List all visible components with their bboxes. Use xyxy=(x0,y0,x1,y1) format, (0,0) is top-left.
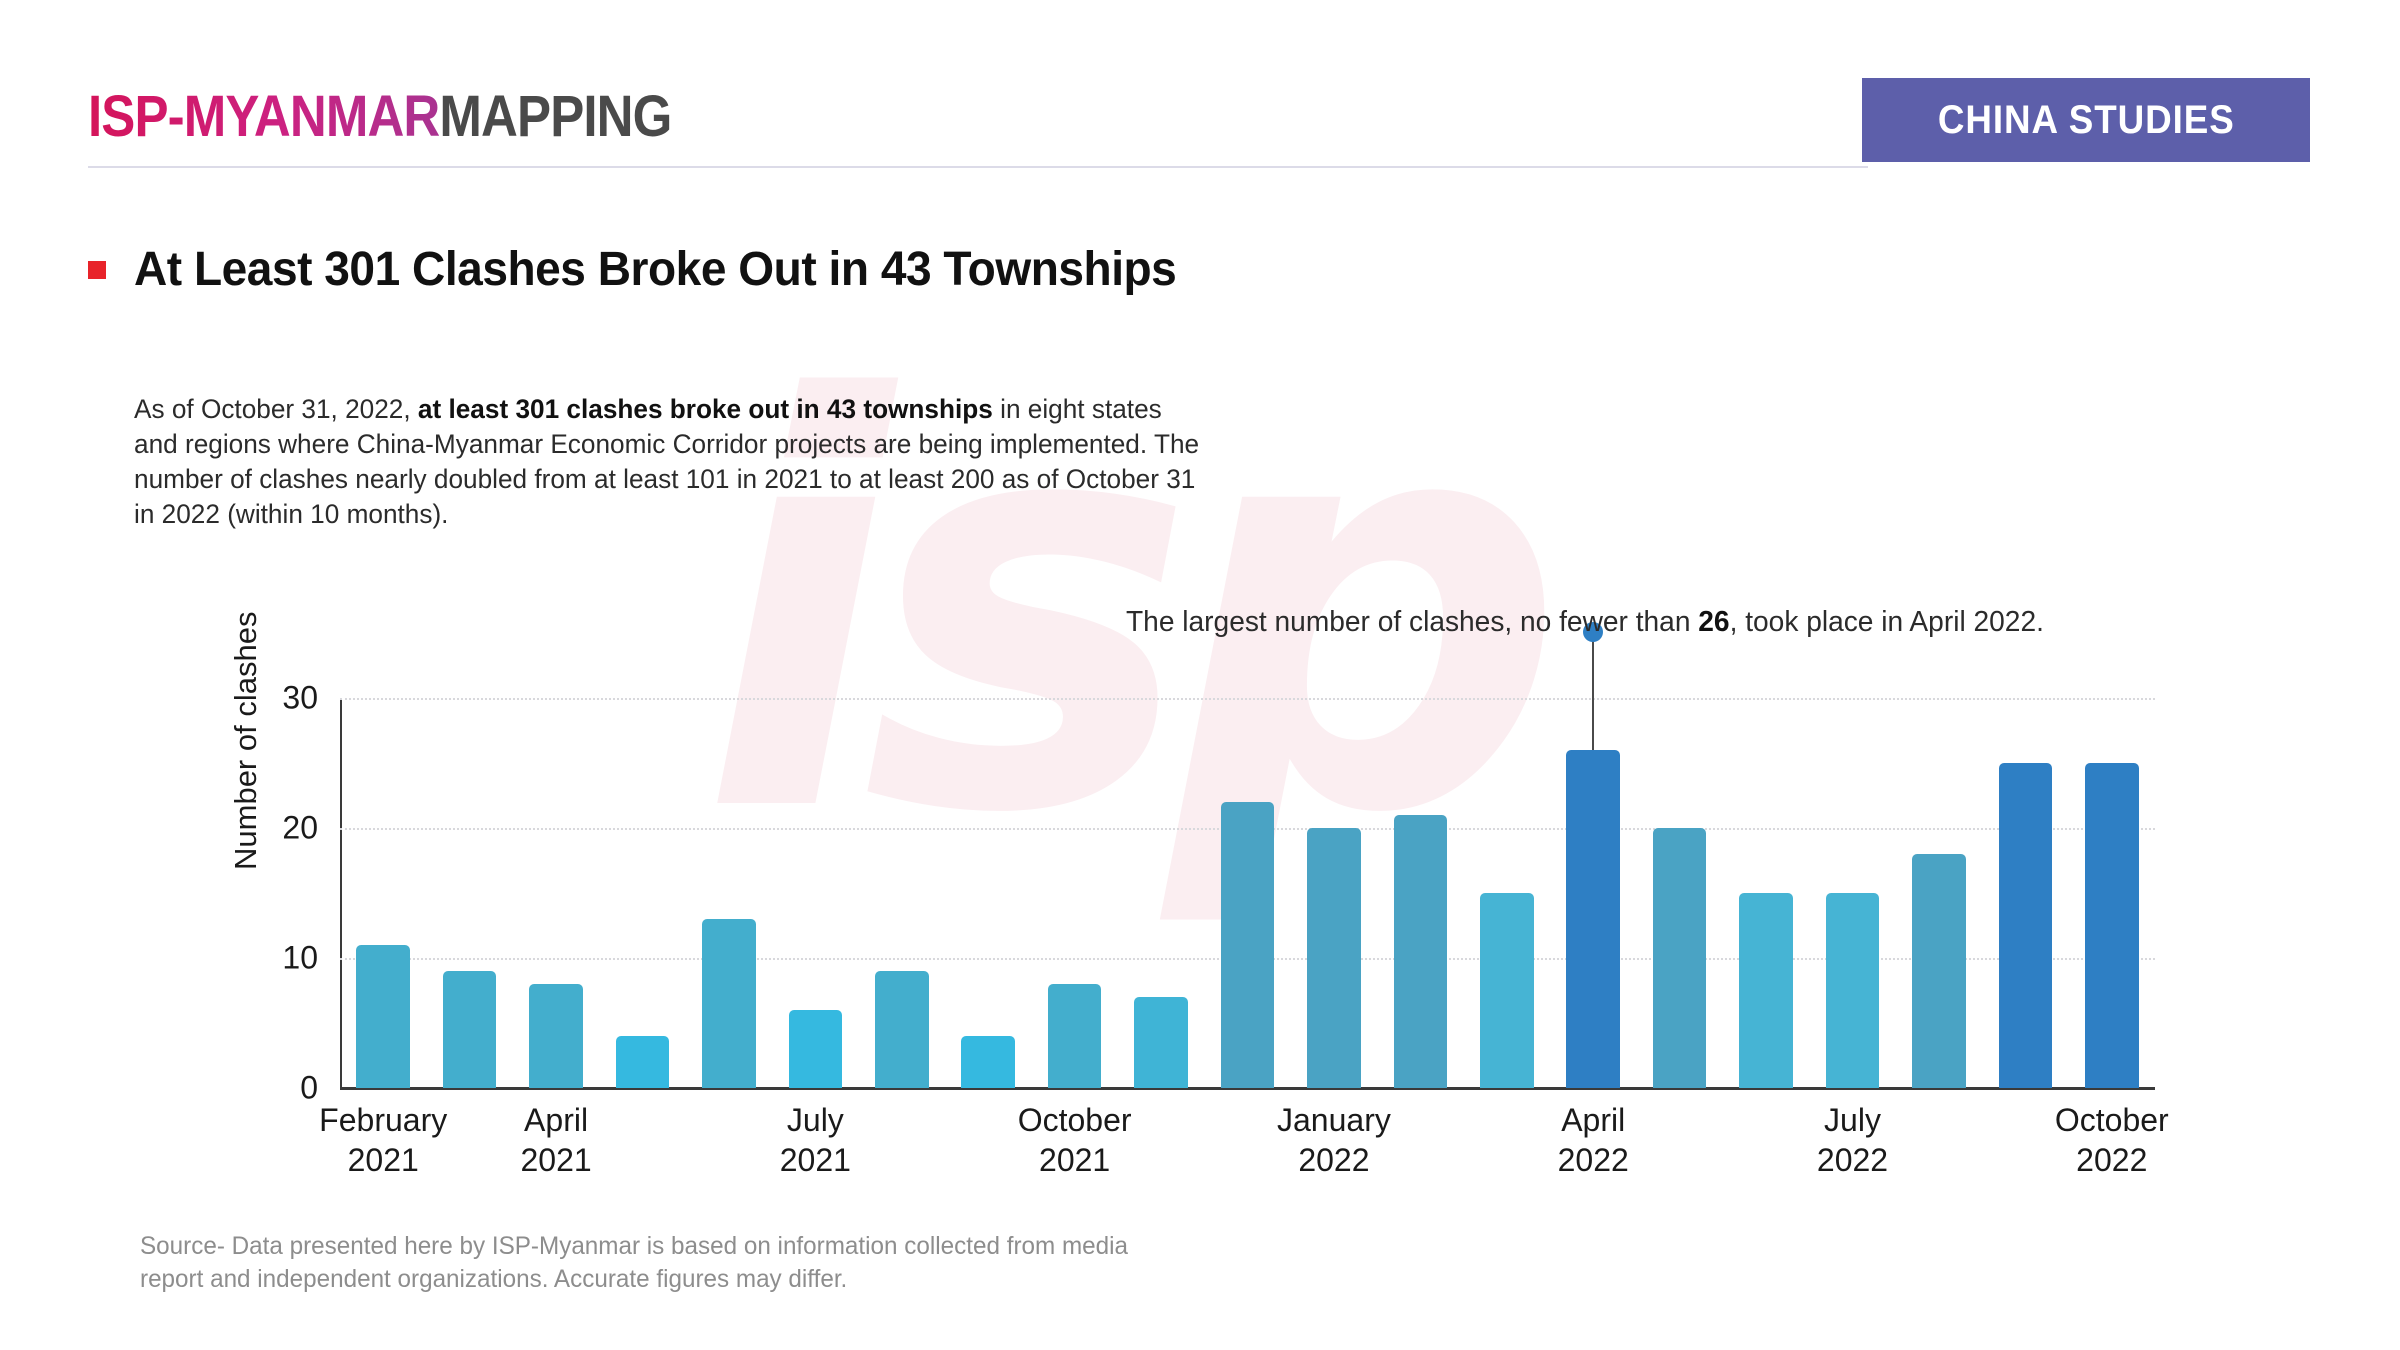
bar-september-2022 xyxy=(1999,763,2053,1088)
x-tick-year: 2021 xyxy=(780,1140,851,1180)
bar-may-2022 xyxy=(1653,828,1707,1088)
logo-secondary-text: MAPPING xyxy=(439,84,671,149)
highlight-leader-line xyxy=(1592,632,1594,750)
y-tick-label-0: 0 xyxy=(300,1070,318,1107)
bar-august-2021 xyxy=(875,971,929,1088)
bar-february-2022 xyxy=(1394,815,1448,1088)
badge-label: CHINA STUDIES xyxy=(1938,98,2235,143)
bar-june-2022 xyxy=(1739,893,1793,1088)
x-tick-year: 2021 xyxy=(520,1140,591,1180)
body-paragraph: As of October 31, 2022, at least 301 cla… xyxy=(134,392,1201,532)
bar-december-2021 xyxy=(1221,802,1275,1088)
y-tick-label-30: 30 xyxy=(282,680,318,717)
bar-september-2021 xyxy=(961,1036,1015,1088)
x-tick-month: January xyxy=(1277,1100,1391,1140)
x-tick-label-october-2022: October2022 xyxy=(2055,1100,2169,1180)
body-segment-2-bold: at least 301 clashes broke out in 43 tow… xyxy=(418,394,993,424)
isp-myanmar-mapping-logo: ISP-MYANMARMAPPING xyxy=(88,88,671,146)
bar-october-2021 xyxy=(1048,984,1102,1088)
x-tick-label-february-2021: February2021 xyxy=(319,1100,447,1180)
x-axis-ticks: February2021April2021July2021October2021… xyxy=(340,1100,2155,1190)
china-studies-badge: CHINA STUDIES xyxy=(1862,78,2310,162)
logo-primary-text: ISP-MYANMAR xyxy=(88,84,439,149)
page-header: ISP-MYANMARMAPPING CHINA STUDIES xyxy=(0,0,2400,180)
annotation-suffix: , took place in April 2022. xyxy=(1730,606,2044,638)
x-tick-label-october-2021: October2021 xyxy=(1018,1100,1132,1180)
bar-march-2021 xyxy=(443,971,497,1088)
clashes-bar-chart: Number of clashes 0102030 February2021Ap… xyxy=(200,660,2210,1140)
x-tick-label-july-2021: July2021 xyxy=(780,1100,851,1180)
x-tick-label-april-2021: April2021 xyxy=(520,1100,591,1180)
bar-february-2021 xyxy=(356,945,410,1088)
x-tick-year: 2021 xyxy=(1018,1140,1132,1180)
x-tick-year: 2022 xyxy=(2055,1140,2169,1180)
source-note: Source- Data presented here by ISP-Myanm… xyxy=(140,1230,1159,1296)
x-tick-month: February xyxy=(319,1100,447,1140)
title-bullet-square-icon xyxy=(88,261,106,279)
bar-series xyxy=(340,698,2155,1088)
x-tick-month: April xyxy=(1558,1100,1629,1140)
bar-july-2022 xyxy=(1826,893,1880,1088)
annotation-value: 26 xyxy=(1698,606,1729,638)
x-tick-year: 2022 xyxy=(1817,1140,1888,1180)
bar-november-2021 xyxy=(1134,997,1188,1088)
y-axis-label: Number of clashes xyxy=(228,612,264,870)
plot-area: 0102030 xyxy=(340,698,2155,1088)
bar-april-2021 xyxy=(529,984,583,1088)
header-divider xyxy=(88,166,1868,168)
bar-june-2021 xyxy=(702,919,756,1088)
infographic-page: isp ISP-MYANMARMAPPING CHINA STUDIES At … xyxy=(0,0,2400,1350)
bar-august-2022 xyxy=(1912,854,1966,1088)
bar-may-2021 xyxy=(616,1036,670,1088)
x-tick-month: April xyxy=(520,1100,591,1140)
x-tick-year: 2022 xyxy=(1277,1140,1391,1180)
x-tick-month: July xyxy=(1817,1100,1888,1140)
bar-july-2021 xyxy=(789,1010,843,1088)
x-tick-month: July xyxy=(780,1100,851,1140)
page-title: At Least 301 Clashes Broke Out in 43 Tow… xyxy=(88,244,1220,296)
x-tick-year: 2021 xyxy=(319,1140,447,1180)
bar-january-2022 xyxy=(1307,828,1361,1088)
y-tick-label-10: 10 xyxy=(282,940,318,977)
bar-october-2022 xyxy=(2085,763,2139,1088)
x-tick-month: October xyxy=(1018,1100,1132,1140)
x-tick-label-july-2022: July2022 xyxy=(1817,1100,1888,1180)
annotation-prefix: The largest number of clashes, no fewer … xyxy=(1126,606,1698,638)
bar-march-2022 xyxy=(1480,893,1534,1088)
y-tick-label-20: 20 xyxy=(282,810,318,847)
x-tick-year: 2022 xyxy=(1558,1140,1629,1180)
chart-annotation: The largest number of clashes, no fewer … xyxy=(1126,605,2044,639)
x-tick-label-april-2022: April2022 xyxy=(1558,1100,1629,1180)
page-title-text: At Least 301 Clashes Broke Out in 43 Tow… xyxy=(134,244,1176,296)
x-tick-month: October xyxy=(2055,1100,2169,1140)
body-segment-1: As of October 31, 2022, xyxy=(134,394,418,424)
bar-april-2022 xyxy=(1566,750,1620,1088)
x-tick-label-january-2022: January2022 xyxy=(1277,1100,1391,1180)
